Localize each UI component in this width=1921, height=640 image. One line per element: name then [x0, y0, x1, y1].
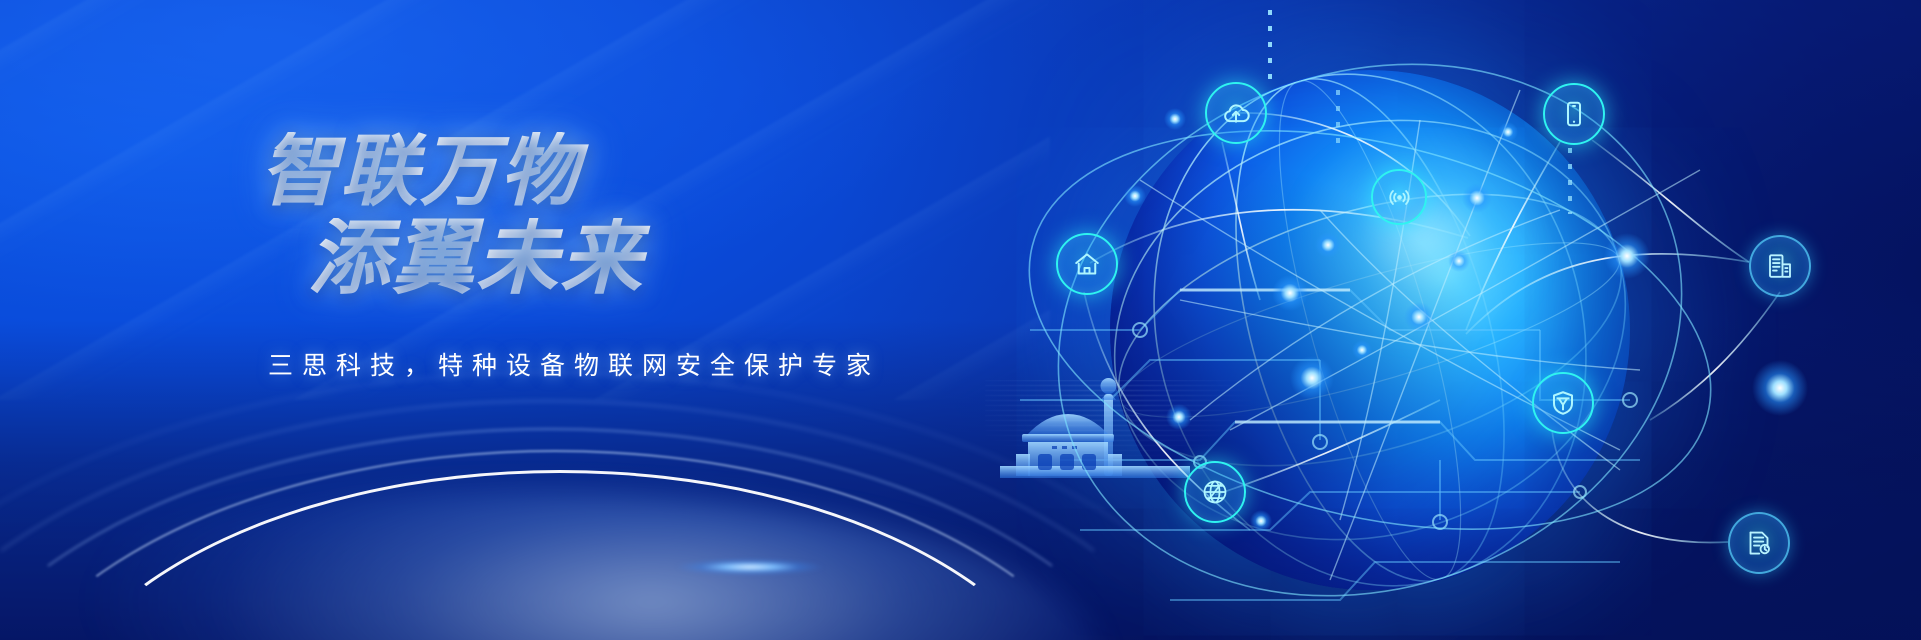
hero-subtitle: 三思科技，特种设备物联网安全保护专家 [268, 346, 1006, 382]
node-shield[interactable] [1532, 372, 1594, 434]
server-rack-icon [1765, 251, 1795, 281]
node-home[interactable] [1056, 233, 1118, 295]
node-server-rack[interactable] [1749, 235, 1811, 297]
headline-line-2: 添翼未来 [308, 218, 1006, 300]
node-document-report[interactable] [1728, 512, 1790, 574]
node-wifi-signal[interactable] [1371, 169, 1427, 225]
node-smartphone[interactable] [1543, 83, 1605, 145]
smartphone-icon [1559, 99, 1589, 129]
document-report-icon [1744, 528, 1774, 558]
globe-network-icon [1200, 477, 1230, 507]
node-globe-network[interactable] [1184, 461, 1246, 523]
shield-icon [1548, 388, 1578, 418]
home-icon [1072, 249, 1102, 279]
wifi-signal-icon [1386, 184, 1413, 211]
hero-copy: 智联万物 添翼未来 三思科技，特种设备物联网安全保护专家 [246, 132, 1006, 382]
water-reflection [985, 380, 1285, 470]
node-cloud-upload[interactable] [1205, 82, 1267, 144]
hero-banner: 智联万物 添翼未来 三思科技，特种设备物联网安全保护专家 [0, 0, 1921, 640]
headline-line-1: 智联万物 [260, 132, 1006, 210]
cloud-upload-icon [1221, 98, 1251, 128]
